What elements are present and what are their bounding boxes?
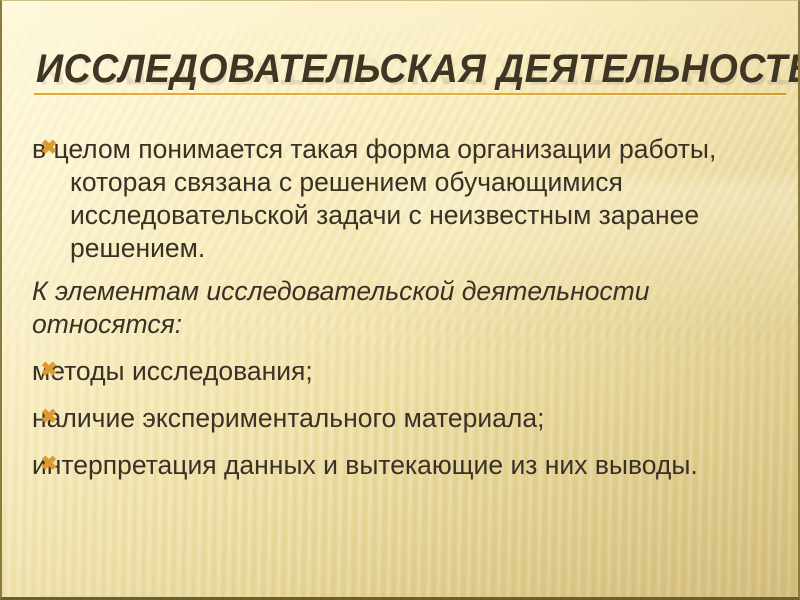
bullet-item-1: ✖ в целом понимается такая форма организ…	[32, 133, 772, 265]
bullet-item-4-text: интерпретация данных и вытекающие из них…	[32, 449, 772, 482]
spacer-3	[32, 392, 772, 402]
spacer-2	[32, 345, 772, 355]
slide-body: ✖ в целом понимается такая форма организ…	[32, 133, 772, 486]
bullet-item-2: ✖ методы исследования;	[32, 355, 772, 388]
bullet-item-3-text: наличие экспериментального материала;	[32, 402, 772, 435]
spacer-4	[32, 439, 772, 449]
bullet-item-3: ✖ наличие экспериментального материала;	[32, 402, 772, 435]
bullet-x-icon: ✖	[39, 137, 59, 159]
presentation-slide: ИССЛЕДОВАТЕЛЬСКАЯ ДЕЯТЕЛЬНОСТЬ ИССЛЕДОВА…	[0, 0, 800, 600]
bullet-item-1-text: в целом понимается такая форма организац…	[32, 133, 772, 265]
slide-title: ИССЛЕДОВАТЕЛЬСКАЯ ДЕЯТЕЛЬНОСТЬ	[36, 47, 739, 91]
title-divider-rule	[34, 93, 786, 95]
bullet-item-2-text: методы исследования;	[32, 355, 772, 388]
bullet-x-icon: ✖	[39, 359, 59, 381]
bullet-x-icon: ✖	[39, 406, 59, 428]
bullet-x-icon: ✖	[39, 453, 59, 475]
lead-in-paragraph: К элементам исследовательской деятельнос…	[32, 275, 772, 341]
lead-in-paragraph-text: К элементам исследовательской деятельнос…	[32, 275, 772, 341]
bullet-item-4: ✖ интерпретация данных и вытекающие из н…	[32, 449, 772, 482]
